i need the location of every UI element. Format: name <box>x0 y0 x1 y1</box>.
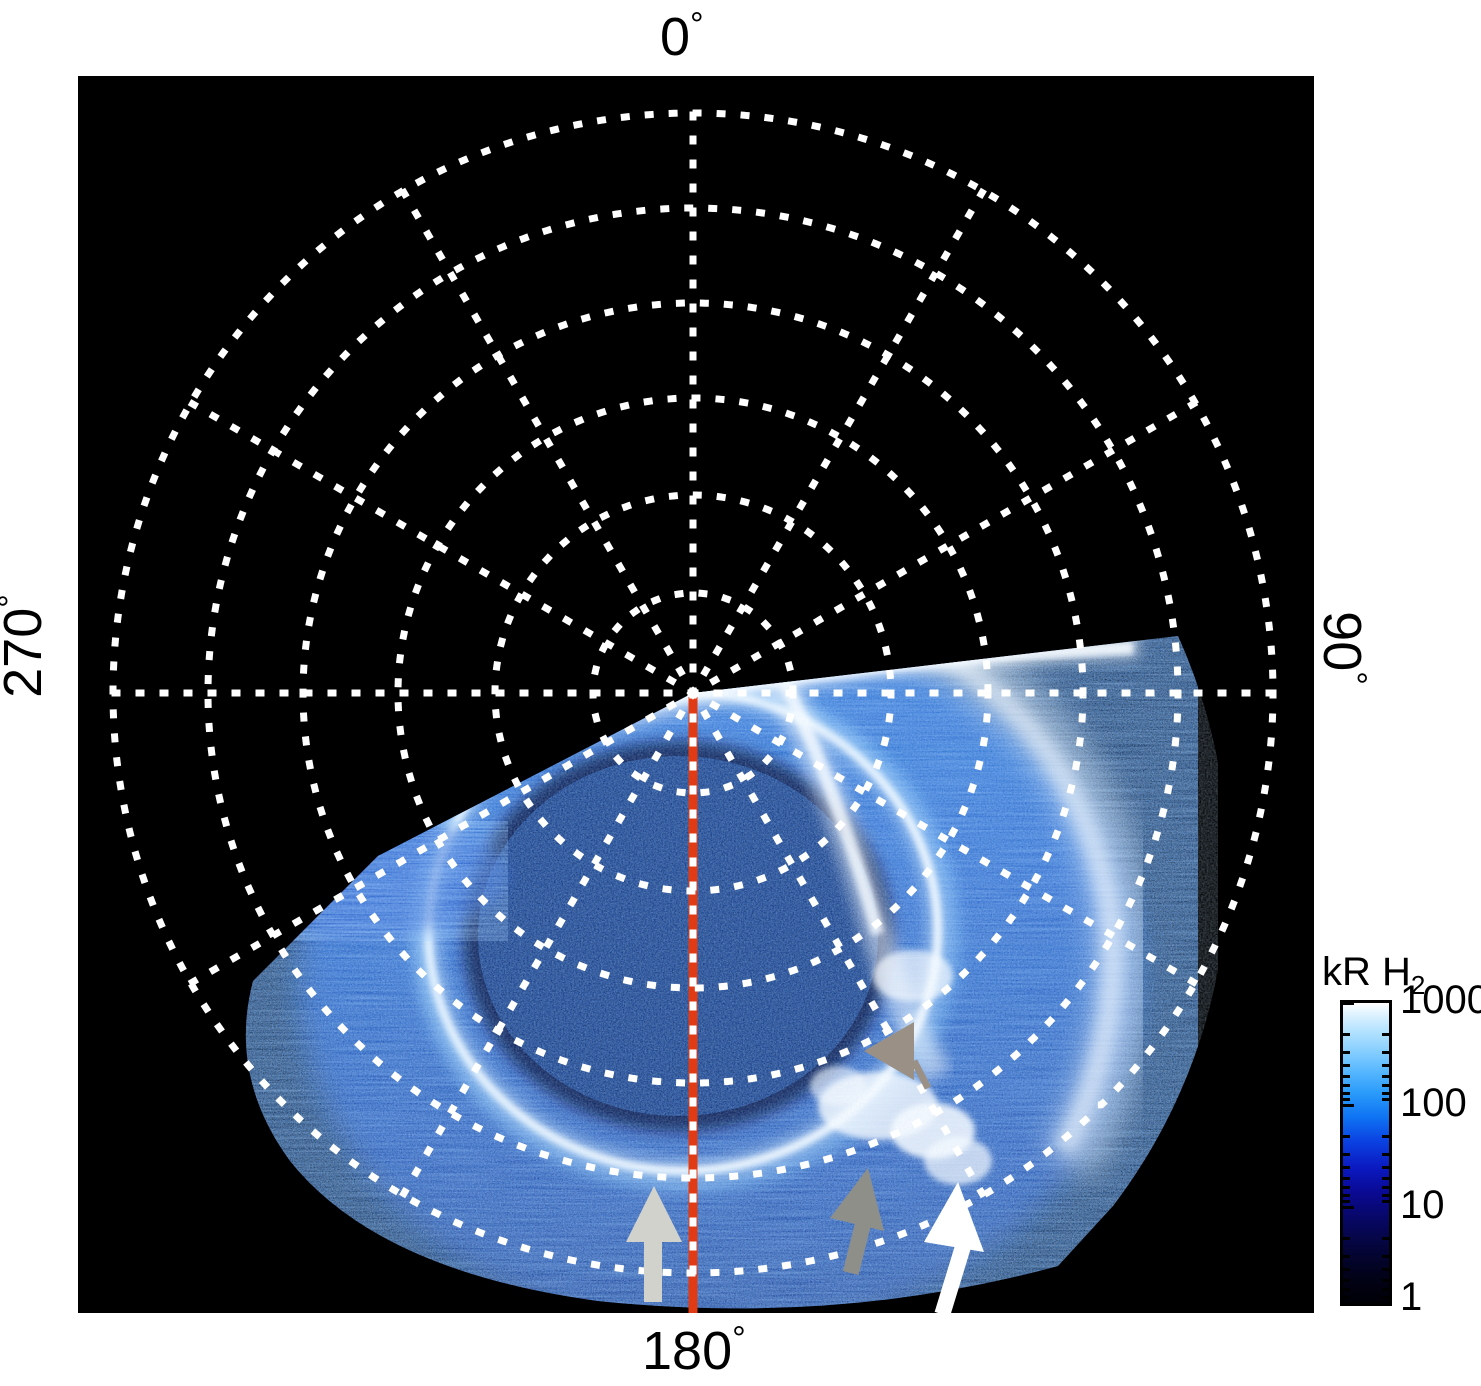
angle-label-180: 180° <box>642 1322 746 1378</box>
colorbar-minor-tick <box>1340 1153 1350 1156</box>
colorbar-minor-tick <box>1382 1200 1392 1203</box>
colorbar-tick-100 <box>1340 1104 1354 1107</box>
colorbar-minor-tick <box>1382 1177 1392 1180</box>
colorbar-minor-tick <box>1340 1166 1350 1169</box>
colorbar-minor-tick <box>1382 1092 1392 1095</box>
colorbar-minor-tick <box>1382 1098 1392 1101</box>
colorbar-minor-tick <box>1382 1186 1392 1189</box>
angle-label-270-value: 270 <box>0 608 53 698</box>
colorbar-minor-tick <box>1340 1075 1350 1078</box>
angle-label-90-value: 90 <box>1312 611 1372 671</box>
colorbar-minor-tick <box>1382 1166 1392 1169</box>
degree-symbol: ° <box>0 594 30 608</box>
colorbar-minor-tick <box>1382 1084 1392 1087</box>
colorbar-minor-tick <box>1382 1064 1392 1067</box>
colorbar-tick-1000 <box>1340 1002 1354 1005</box>
colorbar-minor-tick <box>1382 1194 1392 1197</box>
colorbar-minor-tick <box>1340 1135 1350 1138</box>
angle-label-0-value: 0 <box>660 7 690 67</box>
colorbar-minor-tick <box>1340 1092 1350 1095</box>
angle-label-90: 90° <box>1315 611 1371 685</box>
angle-label-180-value: 180 <box>642 1321 732 1381</box>
angle-label-270: 270° <box>0 594 50 698</box>
colorbar-minor-tick <box>1340 1194 1350 1197</box>
colorbar-minor-tick <box>1382 1288 1392 1291</box>
colorbar-minor-tick <box>1382 1237 1392 1240</box>
colorbar-label-100: 100 <box>1400 1083 1467 1123</box>
colorbar-minor-tick <box>1382 1279 1392 1282</box>
colorbar-minor-tick <box>1340 1033 1350 1036</box>
colorbar-minor-tick <box>1340 1296 1350 1299</box>
colorbar-minor-tick <box>1340 1177 1350 1180</box>
colorbar-minor-tick <box>1382 1033 1392 1036</box>
colorbar-label-10: 10 <box>1400 1185 1445 1225</box>
colorbar-minor-tick <box>1340 1186 1350 1189</box>
colorbar-minor-tick <box>1382 1135 1392 1138</box>
colorbar-minor-tick <box>1382 1075 1392 1078</box>
colorbar-minor-tick <box>1382 1153 1392 1156</box>
colorbar-minor-tick <box>1340 1268 1350 1271</box>
colorbar-minor-tick <box>1340 1237 1350 1240</box>
colorbar-minor-tick <box>1382 1296 1392 1299</box>
colorbar-minor-tick <box>1340 1098 1350 1101</box>
colorbar-label-1: 1 <box>1400 1277 1422 1317</box>
colorbar-minor-tick <box>1382 1051 1392 1054</box>
colorbar-minor-tick <box>1340 1255 1350 1258</box>
polar-plot-svg <box>78 76 1314 1313</box>
colorbar-minor-tick <box>1382 1255 1392 1258</box>
colorbar-minor-tick <box>1340 1084 1350 1087</box>
colorbar-title-text: kR H <box>1322 950 1411 994</box>
polar-plot-area <box>78 76 1314 1313</box>
colorbar-minor-tick <box>1340 1279 1350 1282</box>
colorbar-minor-tick <box>1340 1200 1350 1203</box>
colorbar-minor-tick <box>1340 1288 1350 1291</box>
colorbar-minor-tick <box>1340 1051 1350 1054</box>
figure-root: 0° 180° 270° 90° kR H2 <box>0 0 1481 1386</box>
colorbar-minor-tick <box>1340 1064 1350 1067</box>
colorbar-tick-10 <box>1340 1206 1354 1209</box>
angle-label-0: 0° <box>660 8 704 64</box>
degree-symbol: ° <box>690 6 704 44</box>
colorbar-label-1000: 1000 <box>1400 980 1481 1020</box>
colorbar-minor-tick <box>1382 1268 1392 1271</box>
colorbar: kR H2 <box>1318 950 1478 1320</box>
degree-symbol: ° <box>1335 671 1373 685</box>
degree-symbol: ° <box>732 1320 746 1358</box>
